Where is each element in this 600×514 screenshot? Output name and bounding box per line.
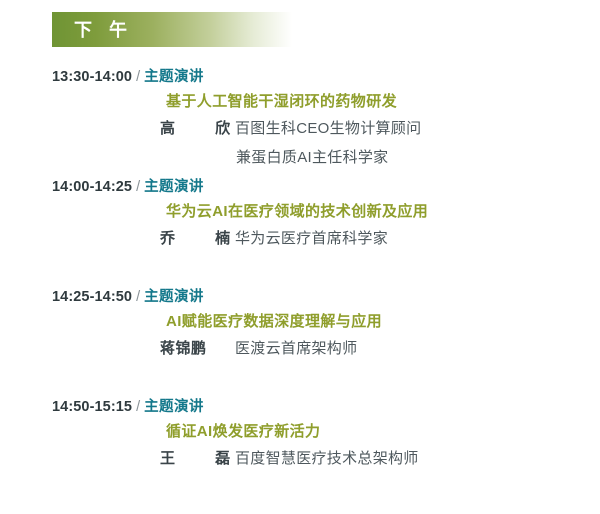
session-type-badge: 主题演讲	[144, 399, 204, 415]
speaker-org: 医渡云首席架构师	[235, 341, 357, 356]
speaker-name: 高 欣	[160, 121, 224, 136]
session-title: 基于人工智能干湿闭环的药物研发	[166, 94, 397, 109]
speaker-org: 百度智慧医疗技术总架构师	[235, 451, 419, 466]
session-separator: /	[132, 69, 144, 85]
agenda-page: 下 午 13:30-14:00/主题演讲 基于人工智能干湿闭环的药物研发 高 欣…	[0, 0, 600, 514]
session-time: 13:30-14:00	[52, 69, 132, 85]
session-separator: /	[132, 289, 144, 305]
session-header: 14:25-14:50/主题演讲	[52, 289, 204, 305]
session-speaker-row: 蒋锦鹏医渡云首席架构师	[160, 341, 357, 357]
session-item[interactable]: 14:50-15:15/主题演讲 循证AI焕发医疗新活力 王 磊百度智慧医疗技术…	[0, 393, 600, 503]
session-title: 华为云AI在医疗领域的技术创新及应用	[166, 204, 428, 219]
session-item[interactable]: 14:25-14:50/主题演讲 AI赋能医疗数据深度理解与应用 蒋锦鹏医渡云首…	[0, 283, 600, 393]
session-title: 循证AI焕发医疗新活力	[166, 424, 320, 439]
session-header: 13:30-14:00/主题演讲	[52, 69, 204, 85]
session-speaker-row: 王 磊百度智慧医疗技术总架构师	[160, 451, 419, 467]
session-item[interactable]: 13:30-14:00/主题演讲 基于人工智能干湿闭环的药物研发 高 欣百图生科…	[0, 63, 600, 173]
speaker-name: 蒋锦鹏	[160, 341, 224, 356]
session-list: 13:30-14:00/主题演讲 基于人工智能干湿闭环的药物研发 高 欣百图生科…	[0, 63, 600, 503]
session-time: 14:00-14:25	[52, 179, 132, 195]
session-separator: /	[132, 179, 144, 195]
session-speaker-row: 乔 楠华为云医疗首席科学家	[160, 231, 388, 247]
section-banner: 下 午	[52, 12, 292, 47]
session-time: 14:25-14:50	[52, 289, 132, 305]
speaker-name: 王 磊	[160, 451, 224, 466]
session-type-badge: 主题演讲	[144, 289, 204, 305]
speaker-org: 华为云医疗首席科学家	[235, 231, 388, 246]
section-banner-label: 下 午	[74, 21, 133, 39]
speaker-name: 乔 楠	[160, 231, 224, 246]
session-header: 14:50-15:15/主题演讲	[52, 399, 204, 415]
session-separator: /	[132, 399, 144, 415]
speaker-org: 百图生科CEO生物计算顾问	[235, 121, 421, 136]
session-type-badge: 主题演讲	[144, 179, 204, 195]
session-speaker-row: 高 欣百图生科CEO生物计算顾问	[160, 121, 421, 137]
session-type-badge: 主题演讲	[144, 69, 204, 85]
session-item[interactable]: 14:00-14:25/主题演讲 华为云AI在医疗领域的技术创新及应用 乔 楠华…	[0, 173, 600, 283]
speaker-org-line2: 兼蛋白质AI主任科学家	[236, 150, 388, 165]
session-header: 14:00-14:25/主题演讲	[52, 179, 204, 195]
session-time: 14:50-15:15	[52, 399, 132, 415]
session-title: AI赋能医疗数据深度理解与应用	[166, 314, 382, 329]
